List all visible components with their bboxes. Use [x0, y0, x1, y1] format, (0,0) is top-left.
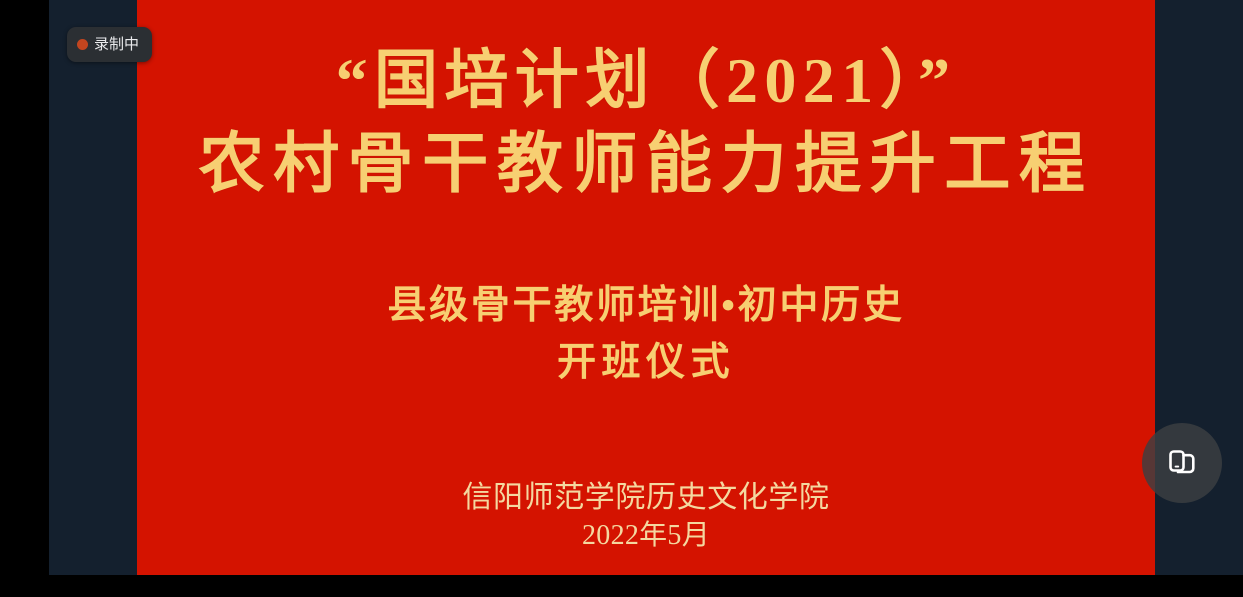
slide-subtitle-line-1: 县级骨干教师培训•初中历史 — [137, 278, 1155, 334]
slide-title-line-2: 农村骨干教师能力提升工程 — [137, 122, 1155, 208]
slide-title-line-1: “国培计划（2021）” — [137, 40, 1155, 122]
video-stage: “国培计划（2021）” 农村骨干教师能力提升工程 县级骨干教师培训•初中历史 … — [49, 0, 1243, 575]
slide-footer-block: 信阳师范学院历史文化学院 2022年5月 — [137, 478, 1155, 554]
screen-cast-button[interactable] — [1142, 423, 1222, 503]
slide-content: “国培计划（2021）” 农村骨干教师能力提升工程 县级骨干教师培训•初中历史 … — [137, 0, 1155, 575]
screen-cast-icon — [1162, 443, 1202, 483]
recording-label: 录制中 — [94, 37, 139, 52]
slide-subtitle-line-2: 开班仪式 — [137, 334, 1155, 392]
shared-slide: “国培计划（2021）” 农村骨干教师能力提升工程 县级骨干教师培训•初中历史 … — [137, 0, 1155, 575]
recording-status-badge[interactable]: 录制中 — [67, 27, 152, 62]
slide-date: 2022年5月 — [137, 518, 1155, 554]
meeting-screen-share-view: “国培计划（2021）” 农村骨干教师能力提升工程 县级骨干教师培训•初中历史 … — [0, 0, 1243, 597]
slide-organization: 信阳师范学院历史文化学院 — [137, 478, 1155, 518]
slide-subtitle-block: 县级骨干教师培训•初中历史 开班仪式 — [137, 278, 1155, 392]
slide-title-block: “国培计划（2021）” 农村骨干教师能力提升工程 — [137, 40, 1155, 208]
recording-dot-icon — [77, 39, 88, 50]
